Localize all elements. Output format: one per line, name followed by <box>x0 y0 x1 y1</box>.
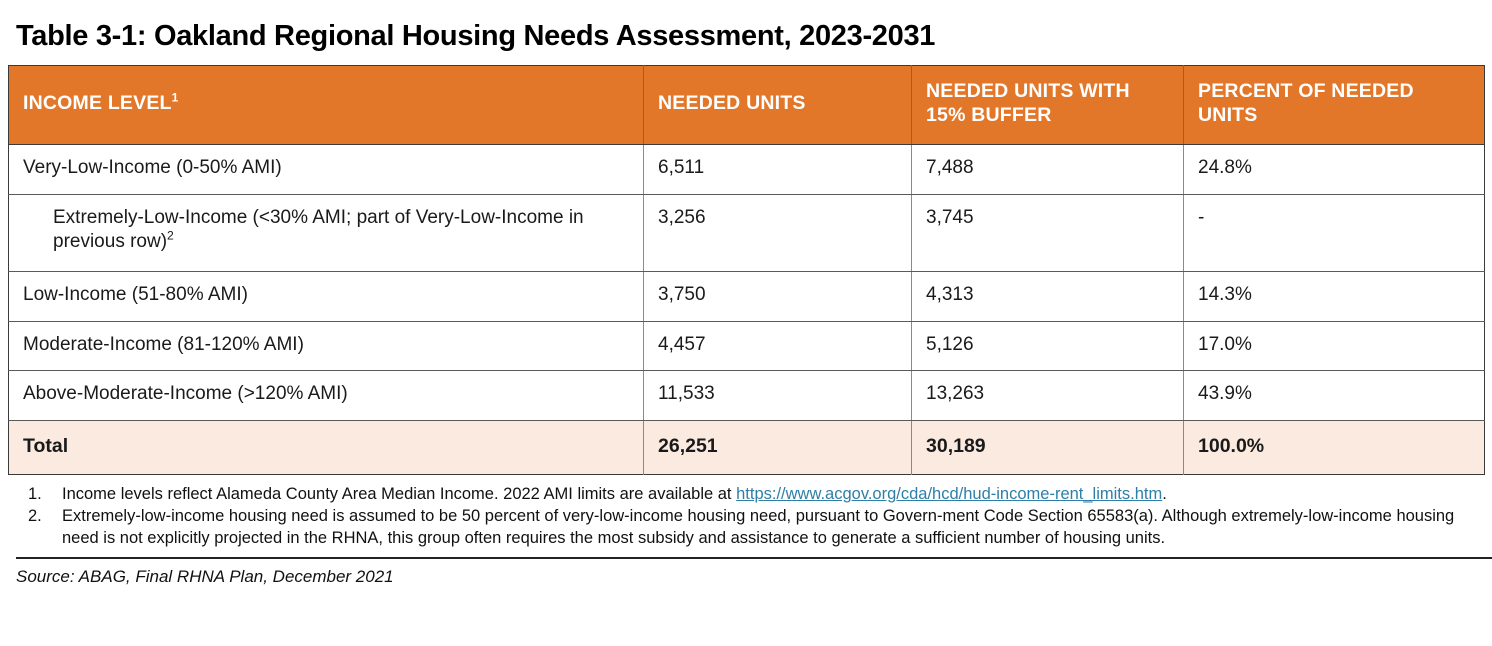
footnote-marker-1: 1 <box>172 91 179 105</box>
rhna-table: INCOME LEVEL1 NEEDED UNITS NEEDED UNITS … <box>8 65 1485 475</box>
table-row: Extremely-Low-Income (<30% AMI; part of … <box>9 194 1485 271</box>
table-row: Above-Moderate-Income (>120% AMI) 11,533… <box>9 371 1485 421</box>
row-needed-units: 6,511 <box>644 144 912 194</box>
row-needed-units-buffer: 3,745 <box>912 194 1184 271</box>
footnote-text: Extremely-low-income housing need is ass… <box>62 506 1492 550</box>
table-page: Table 3-1: Oakland Regional Housing Need… <box>0 0 1492 646</box>
column-header-income-level: INCOME LEVEL1 <box>9 66 644 145</box>
total-needed-units-buffer: 30,189 <box>912 421 1184 475</box>
row-percent-of-needed-units: 24.8% <box>1184 144 1485 194</box>
row-needed-units: 11,533 <box>644 371 912 421</box>
row-needed-units-buffer: 7,488 <box>912 144 1184 194</box>
column-header-needed-units: NEEDED UNITS <box>644 66 912 145</box>
row-label-cell: Very-Low-Income (0-50% AMI) <box>9 144 644 194</box>
footnote-item: 2. Extremely-low-income housing need is … <box>16 506 1492 550</box>
row-percent-of-needed-units: - <box>1184 194 1485 271</box>
row-label: Low-Income (51-80% AMI) <box>23 284 248 305</box>
total-label: Total <box>9 421 644 475</box>
total-percent-of-needed-units: 100.0% <box>1184 421 1485 475</box>
row-label-cell: Above-Moderate-Income (>120% AMI) <box>9 371 644 421</box>
footnote-link[interactable]: https://www.acgov.org/cda/hcd/hud-income… <box>736 485 1162 503</box>
footnote-text: Income levels reflect Alameda County Are… <box>62 484 1492 506</box>
row-label: Very-Low-Income (0-50% AMI) <box>23 157 282 178</box>
table-row: Low-Income (51-80% AMI) 3,750 4,313 14.3… <box>9 271 1485 321</box>
table-body: Very-Low-Income (0-50% AMI) 6,511 7,488 … <box>9 144 1485 474</box>
footnote-text-after-link: . <box>1162 485 1167 503</box>
row-label-cell: Moderate-Income (81-120% AMI) <box>9 321 644 371</box>
footnote-item: 1. Income levels reflect Alameda County … <box>16 484 1492 506</box>
footnote-marker-2: 2 <box>167 229 174 243</box>
row-needed-units: 4,457 <box>644 321 912 371</box>
row-percent-of-needed-units: 43.9% <box>1184 371 1485 421</box>
column-header-income-level-label: INCOME LEVEL <box>23 92 172 114</box>
column-header-percent-of-needed-units: PERCENT OF NEEDED UNITS <box>1184 66 1485 145</box>
row-needed-units: 3,256 <box>644 194 912 271</box>
row-label-cell: Low-Income (51-80% AMI) <box>9 271 644 321</box>
page-title: Table 3-1: Oakland Regional Housing Need… <box>8 0 1484 65</box>
row-needed-units-buffer: 13,263 <box>912 371 1184 421</box>
row-percent-of-needed-units: 17.0% <box>1184 321 1485 371</box>
table-header: INCOME LEVEL1 NEEDED UNITS NEEDED UNITS … <box>9 66 1485 145</box>
row-needed-units: 3,750 <box>644 271 912 321</box>
footnote-number: 2. <box>16 506 62 528</box>
source-note: Source: ABAG, Final RHNA Plan, December … <box>16 567 1476 587</box>
column-header-needed-units-buffer: NEEDED UNITS WITH 15% BUFFER <box>912 66 1184 145</box>
table-row: Moderate-Income (81-120% AMI) 4,457 5,12… <box>9 321 1485 371</box>
table-row: Very-Low-Income (0-50% AMI) 6,511 7,488 … <box>9 144 1485 194</box>
footnote-number: 1. <box>16 484 62 506</box>
header-row: INCOME LEVEL1 NEEDED UNITS NEEDED UNITS … <box>9 66 1485 145</box>
footnote-text-before-link: Income levels reflect Alameda County Are… <box>62 485 736 503</box>
row-percent-of-needed-units: 14.3% <box>1184 271 1485 321</box>
row-needed-units-buffer: 5,126 <box>912 321 1184 371</box>
total-needed-units: 26,251 <box>644 421 912 475</box>
row-needed-units-buffer: 4,313 <box>912 271 1184 321</box>
row-label-cell: Extremely-Low-Income (<30% AMI; part of … <box>9 194 644 271</box>
row-label: Moderate-Income (81-120% AMI) <box>23 334 304 355</box>
row-label: Above-Moderate-Income (>120% AMI) <box>23 383 348 404</box>
row-label: Extremely-Low-Income (<30% AMI; part of … <box>53 207 584 253</box>
table-total-row: Total 26,251 30,189 100.0% <box>9 421 1485 475</box>
footnotes-section: 1. Income levels reflect Alameda County … <box>16 484 1492 559</box>
